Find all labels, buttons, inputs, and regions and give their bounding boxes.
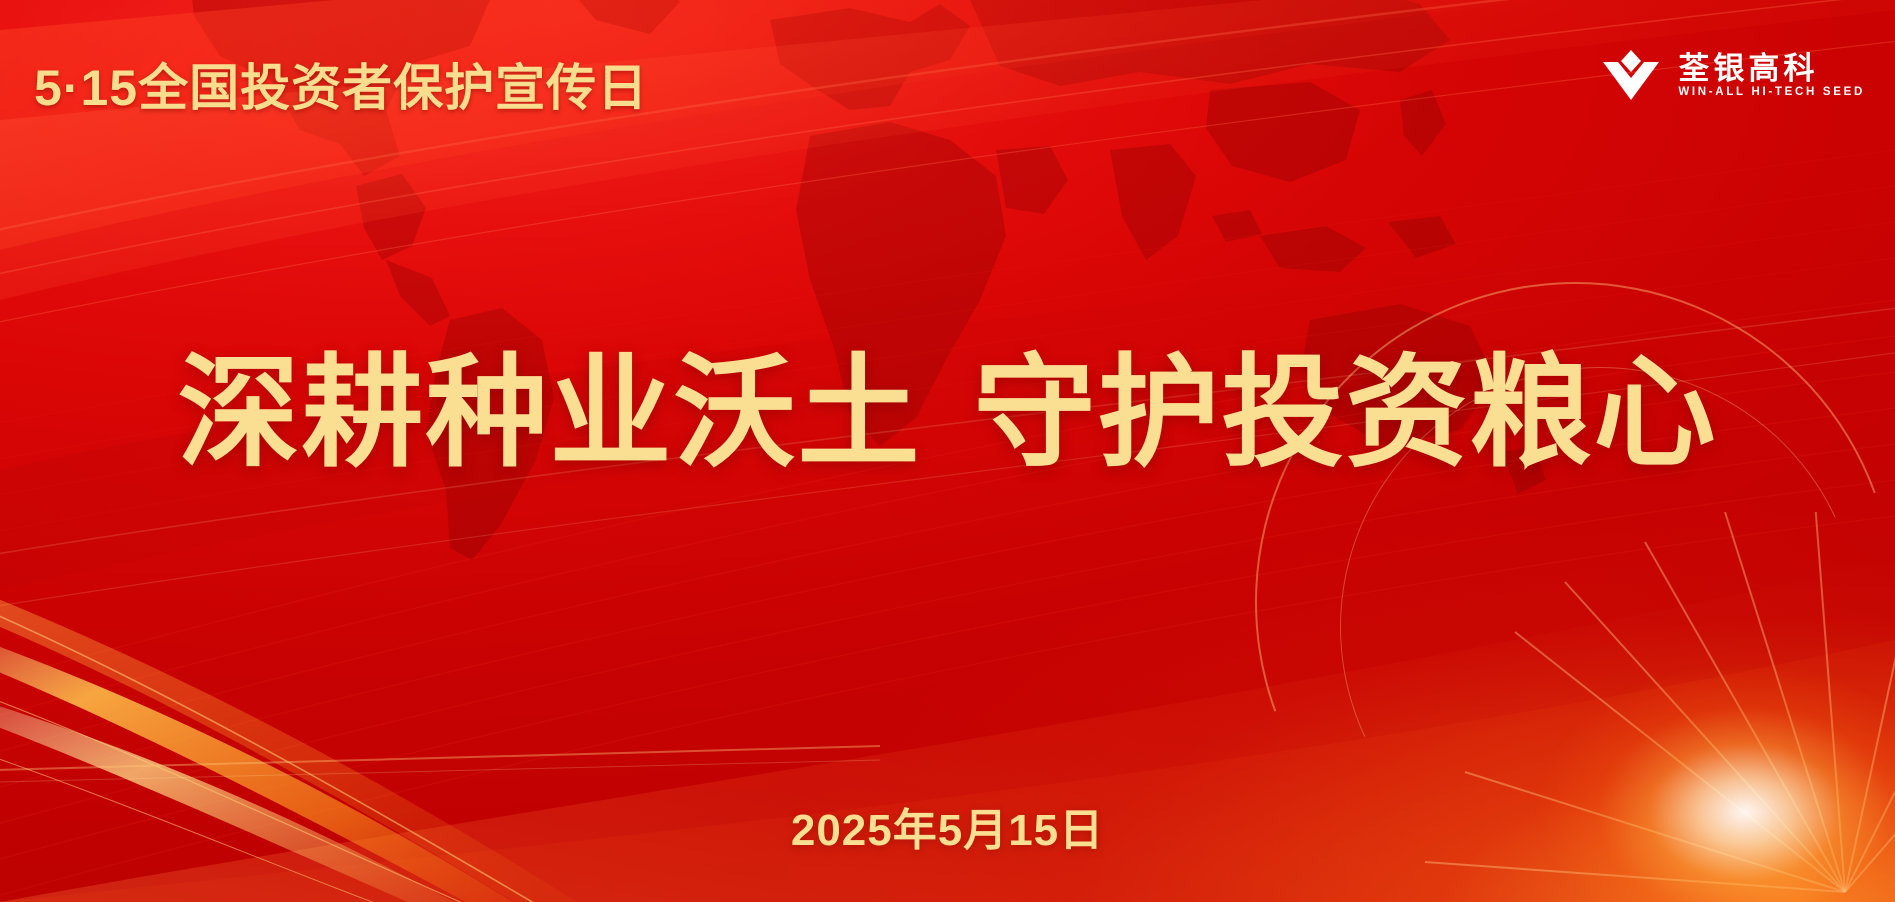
main-headline: 深耕种业沃土守护投资粮心 — [0, 348, 1895, 480]
event-date: 2025年5月15日 — [0, 794, 1895, 858]
headline-phrase-left: 深耕种业沃土 — [178, 345, 922, 481]
brand-name-en: WIN-ALL HI-TECH SEED — [1678, 87, 1865, 99]
headline-phrase-right: 守护投资粮心 — [974, 345, 1718, 481]
brand-name-cn: 荃银高科 — [1678, 53, 1865, 84]
promotional-banner: 5·15全国投资者保护宣传日 荃银高科 WIN-ALL HI-TECH SEED… — [0, 0, 1895, 902]
brand-text-block: 荃银高科 WIN-ALL HI-TECH SEED — [1678, 53, 1865, 99]
campaign-kicker-title: 5·15全国投资者保护宣传日 — [34, 48, 648, 120]
chevron-diamond-logo-icon — [1600, 48, 1662, 104]
brand-logo: 荃银高科 WIN-ALL HI-TECH SEED — [1600, 48, 1865, 104]
